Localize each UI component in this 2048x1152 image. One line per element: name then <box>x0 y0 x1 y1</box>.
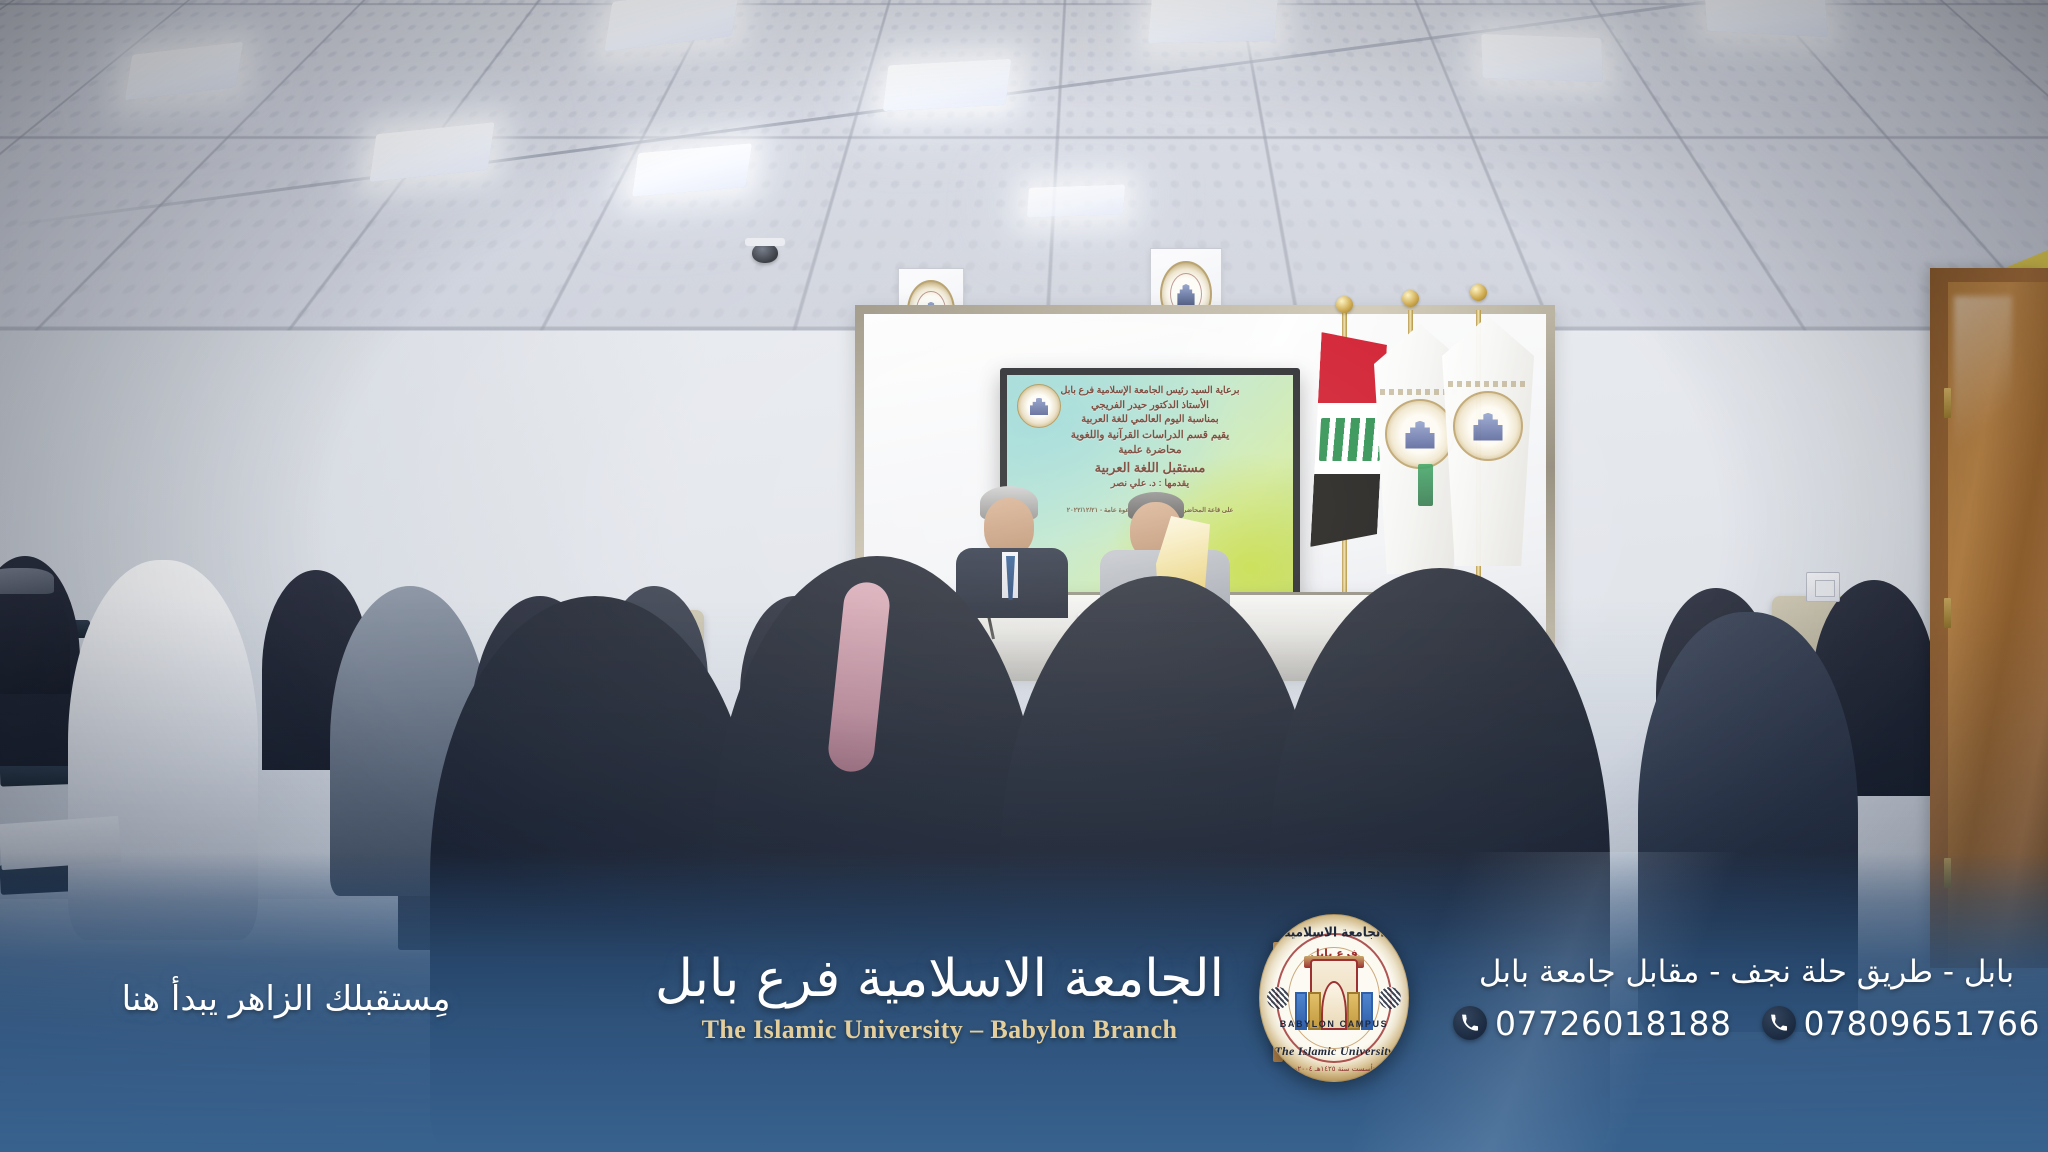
phone-icon <box>1453 1006 1487 1040</box>
seal-arabic-name: الجامعة الاسلامية <box>1260 924 1408 940</box>
phone-icon <box>1762 1006 1796 1040</box>
phone-list: 07726018188 07809651766 <box>1445 1004 2048 1043</box>
slogan-text: مِستقبلك الزاهر يبدأ هنا <box>0 979 620 1025</box>
phone-entry-2[interactable]: 07809651766 <box>1762 1004 2040 1043</box>
phone-number-1: 07726018188 <box>1495 1004 1731 1043</box>
contact-block: بابل - طريق حلة نجف - مقابل جامعة بابل 0… <box>1409 953 2048 1051</box>
bottom-banner: مِستقبلك الزاهر يبدأ هنا الجامعة الاسلام… <box>0 852 2048 1152</box>
university-name-english: The Islamic University – Babylon Branch <box>620 1015 1259 1045</box>
university-seal-logo: الجامعة الاسلامية فرع بابل BABYLON CAMPU… <box>1259 914 1409 1082</box>
screenshot-root: برعاية السيد رئيس الجامعة الإسلامية فرع … <box>0 0 2048 1152</box>
university-seal-wrapper: الجامعة الاسلامية فرع بابل BABYLON CAMPU… <box>1259 914 1409 1090</box>
university-title-block: الجامعة الاسلامية فرع بابل The Islamic U… <box>620 949 1259 1054</box>
university-name-arabic: الجامعة الاسلامية فرع بابل <box>620 949 1259 1010</box>
phone-entry-1[interactable]: 07726018188 <box>1453 1004 1731 1043</box>
seal-english-name: The Islamic University <box>1260 1044 1408 1059</box>
seal-founding-date: تأسست سنة ١٤٢٥هـ ٢٠٠٤م <box>1260 1065 1408 1073</box>
seal-ornament-left-icon <box>1267 987 1289 1009</box>
phone-number-2: 07809651766 <box>1804 1004 2040 1043</box>
address-text: بابل - طريق حلة نجف - مقابل جامعة بابل <box>1445 953 2048 992</box>
seal-ornament-right-icon <box>1379 987 1401 1009</box>
seal-campus-text: BABYLON CAMPUS <box>1260 1019 1408 1029</box>
